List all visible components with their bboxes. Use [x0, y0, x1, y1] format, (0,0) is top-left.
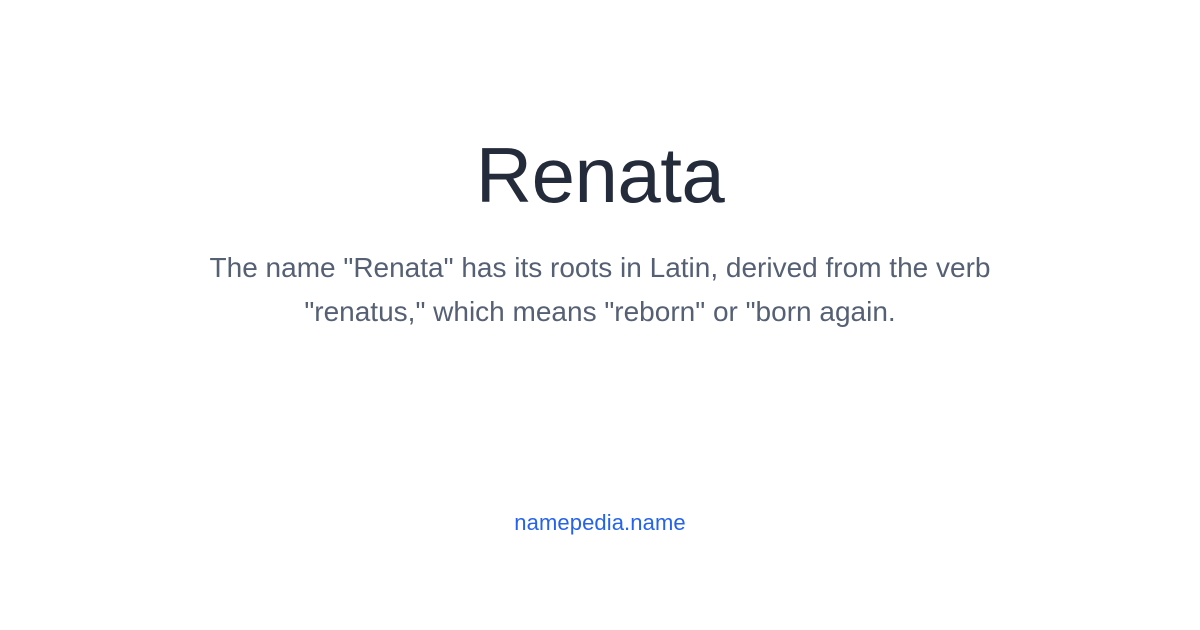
card-content: Renata The name "Renata" has its roots i… [0, 0, 1200, 470]
site-link[interactable]: namepedia.name [514, 508, 685, 538]
page-title: Renata [476, 136, 725, 214]
card-footer: namepedia.name [0, 508, 1200, 538]
name-description: The name "Renata" has its roots in Latin… [154, 246, 1046, 334]
name-info-card: Renata The name "Renata" has its roots i… [0, 0, 1200, 630]
